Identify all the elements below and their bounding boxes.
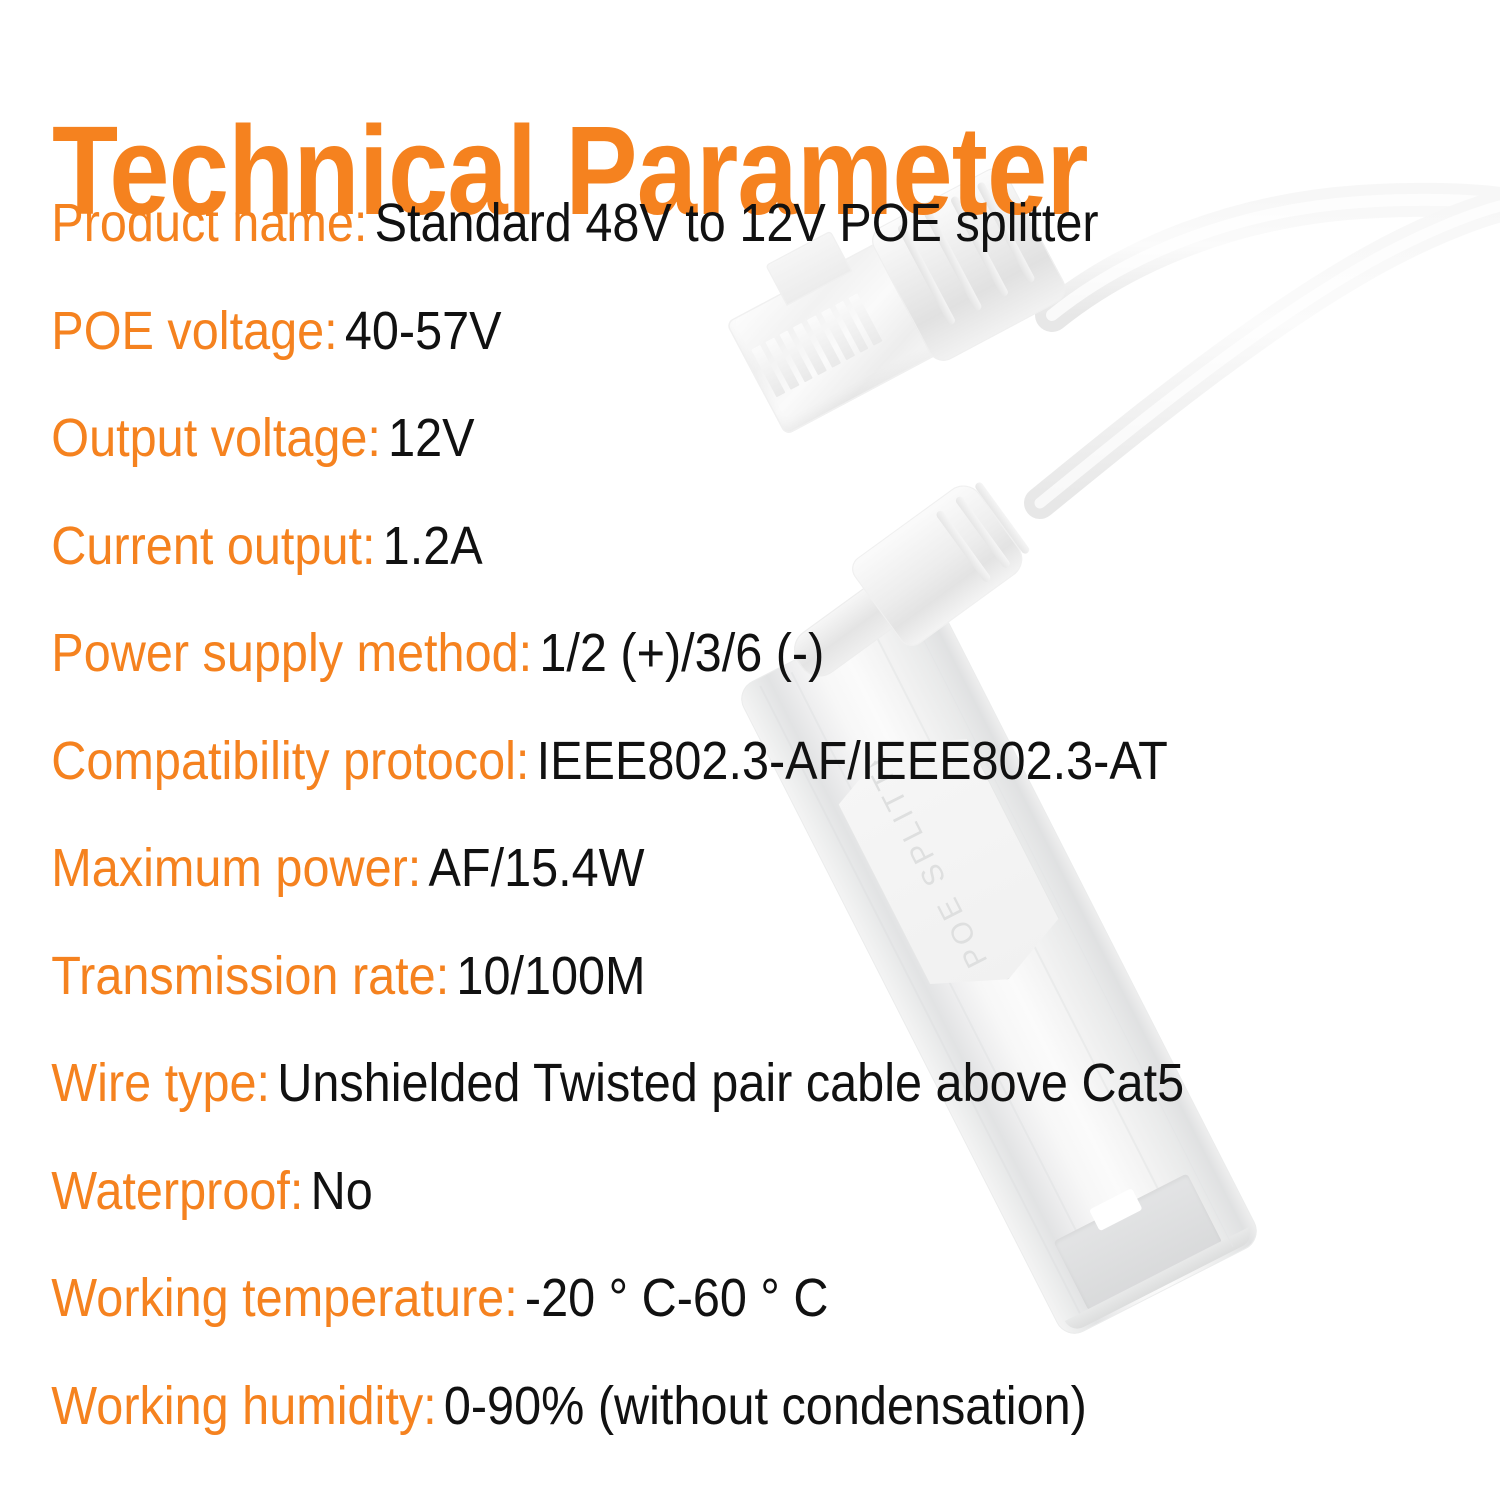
spec-value: 1.2A [375,516,482,576]
spec-value: 40-57V [338,301,502,361]
spec-value: 12V [381,408,475,468]
spec-row-compatibility-protocol: Compatibility protocol:IEEE802.3-AF/IEEE… [0,734,1350,842]
spec-label: Working temperature: [51,1268,517,1328]
spec-value: No [303,1161,372,1221]
spec-label: Product name: [51,193,367,253]
spec-label: Waterproof: [51,1161,303,1221]
spec-row-transmission-rate: Transmission rate:10/100M [0,949,1350,1057]
spec-value: -20 ° C-60 ° C [518,1268,829,1328]
spec-row-product-name: Product name:Standard 48V to 12V POE spl… [0,196,1350,304]
spec-value: Standard 48V to 12V POE splitter [367,193,1098,253]
spec-row-poe-voltage: POE voltage:40-57V [0,304,1350,412]
spec-label: Power supply method: [51,623,532,683]
spec-value: 10/100M [449,946,645,1006]
content-layer: Technical Parameter Product name:Standar… [0,0,1500,1500]
spec-label: Wire type: [51,1053,270,1113]
spec-value: IEEE802.3-AF/IEEE802.3-AT [529,731,1167,791]
spec-label: Working humidity: [51,1376,436,1436]
spec-label: Compatibility protocol: [51,731,529,791]
spec-value: 0-90% (without condensation) [437,1376,1087,1436]
spec-row-working-temperature: Working temperature:-20 ° C-60 ° C [0,1271,1350,1379]
spec-label: Transmission rate: [51,946,449,1006]
spec-label: Current output: [51,516,375,576]
spec-value: 1/2 (+)/3/6 (-) [532,623,824,683]
spec-label: Maximum power: [51,838,421,898]
technical-parameter-page: POE SPLITTER [0,0,1500,1500]
spec-row-power-supply-method: Power supply method:1/2 (+)/3/6 (-) [0,626,1350,734]
spec-row-waterproof: Waterproof:No [0,1164,1350,1272]
spec-list: Product name:Standard 48V to 12V POE spl… [0,196,1500,1486]
spec-row-output-voltage: Output voltage:12V [0,411,1350,519]
spec-row-working-humidity: Working humidity:0-90% (without condensa… [0,1379,1350,1487]
spec-value: Unshielded Twisted pair cable above Cat5 [270,1053,1184,1113]
spec-row-current-output: Current output:1.2A [0,519,1350,627]
spec-label: Output voltage: [51,408,381,468]
spec-row-maximum-power: Maximum power:AF/15.4W [0,841,1350,949]
spec-value: AF/15.4W [421,838,644,898]
spec-row-wire-type: Wire type:Unshielded Twisted pair cable … [0,1056,1350,1164]
spec-label: POE voltage: [51,301,337,361]
